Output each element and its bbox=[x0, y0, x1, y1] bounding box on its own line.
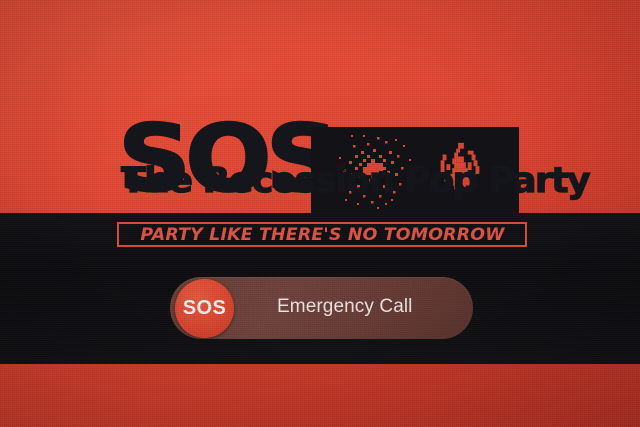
poster-artwork: SOS: bbox=[0, 0, 640, 427]
tagline-text: PARTY LIKE THERE'S NO TOMORROW bbox=[140, 225, 504, 245]
sos-slider-knob[interactable]: SOS bbox=[175, 279, 234, 338]
title-row: SOS: bbox=[0, 62, 640, 157]
emergency-call-label: Emergency Call bbox=[277, 296, 413, 318]
sos-knob-label: SOS bbox=[183, 297, 226, 320]
tagline-box: PARTY LIKE THERE'S NO TOMORROW bbox=[117, 222, 527, 247]
page-subtitle: The Recession Pop Party bbox=[121, 164, 589, 199]
